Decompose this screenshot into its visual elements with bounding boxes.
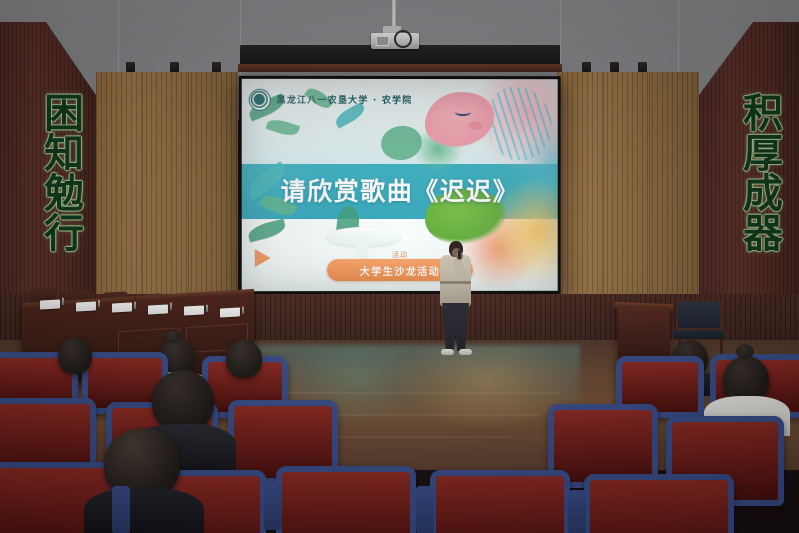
attendee-head (152, 370, 214, 432)
nameplate (76, 301, 96, 311)
wall-panel-left (96, 72, 238, 322)
speaker-box (126, 62, 135, 72)
attendee-head (58, 338, 92, 374)
speaker-box (582, 62, 591, 72)
auditorium-scene: 困知勉行 积厚成器 (0, 0, 799, 533)
desk-microphone-icon (206, 303, 208, 312)
desk-microphone-icon (134, 300, 136, 309)
speaker-box (212, 62, 221, 72)
seat-armrest (264, 482, 282, 530)
slide-activity-pill-label: 大学生沙龙活动 (360, 263, 440, 278)
attendee-shoulders (84, 488, 204, 533)
presentation-slide: 黑龙江八一农垦大学 · 农学院 请欣赏歌曲《迟迟》 活动 大学生沙龙活动 (242, 79, 558, 291)
nameplate (148, 304, 168, 314)
screen-valance-lip (238, 64, 562, 72)
microphone-icon (458, 250, 461, 259)
wall-calligraphy-left: 困知勉行 (14, 92, 86, 252)
wall-panel-right (557, 72, 699, 322)
speaker-box (638, 62, 647, 72)
desk-microphone-icon (98, 298, 100, 307)
seat-armrest (568, 490, 586, 533)
slide-organization-text: 黑龙江八一农垦大学 · 农学院 (277, 93, 413, 106)
attendee-head (226, 340, 262, 378)
slide-eyelash-icon (455, 108, 471, 116)
nameplate (184, 305, 204, 315)
projection-screen: 黑龙江八一农垦大学 · 农学院 请欣赏歌曲《迟迟》 活动 大学生沙龙活动 (239, 76, 561, 294)
nameplate (112, 302, 132, 312)
desk-microphone-icon (62, 296, 64, 305)
audience-seat[interactable] (276, 466, 416, 533)
projector-pole (392, 0, 396, 28)
audience-seat[interactable] (584, 474, 734, 533)
university-seal-icon (249, 88, 271, 110)
attendee-hair-bun (736, 344, 754, 359)
performer-shoe (459, 349, 472, 355)
wall-calligraphy-right: 积厚成器 (713, 92, 785, 252)
desk-microphone-icon (170, 301, 172, 310)
nameplate (220, 307, 240, 317)
audience-seat[interactable] (430, 470, 570, 533)
slide-title: 请欣赏歌曲《迟迟》 (242, 172, 558, 208)
desk-microphone-icon (242, 305, 244, 314)
performer-shoe (441, 349, 454, 355)
nameplate (40, 299, 60, 309)
attendee-hair-bun (165, 330, 181, 343)
stage-chair-right (676, 300, 722, 330)
seat-armrest (112, 486, 130, 533)
seat-armrest (416, 486, 434, 533)
slide-swirl-decor (488, 88, 551, 160)
speaker-box (170, 62, 179, 72)
projector-lens-icon (376, 36, 389, 46)
speaker-box (610, 62, 619, 72)
projector-ring-icon (394, 30, 412, 48)
performer-belt (440, 281, 471, 284)
